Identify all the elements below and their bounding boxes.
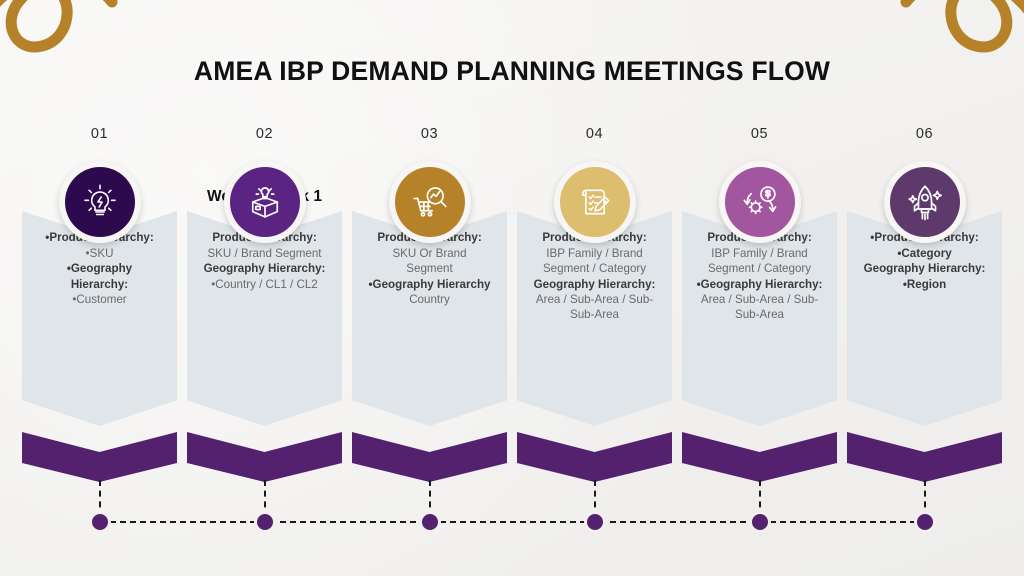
step-chevron-band: [847, 432, 1002, 482]
gear-dollar-cycle-icon: [725, 167, 795, 237]
step-column-04: 04 Week 2 BU-DRProduct Hierarchy:IBP Fam…: [512, 126, 677, 476]
step-chevron-band: [352, 432, 507, 482]
step-number: 02: [182, 126, 347, 142]
step-detail-line: Geography Hierarchy:: [516, 277, 673, 292]
timeline-dot-03[interactable]: [422, 514, 438, 530]
step-column-05: 05 Week 3 BU-DRProduct Hierarchy:IBP Fam…: [677, 126, 842, 476]
step-icon-badge[interactable]: [389, 161, 471, 243]
step-connector-stem: [924, 480, 926, 518]
timeline-dot-01[interactable]: [92, 514, 108, 530]
step-detail-line: SKU Or Brand: [351, 246, 508, 261]
step-icon-badge[interactable]: [224, 161, 306, 243]
step-detail-line: Area / Sub-Area / Sub-: [516, 292, 673, 307]
step-detail-line: Sub-Area: [516, 307, 673, 322]
step-detail-line: Country: [351, 292, 508, 307]
step-column-02: 02 Week 4/ Week 1 Pre-DRProduct Hierarch…: [182, 126, 347, 476]
step-icon-badge[interactable]: [719, 161, 801, 243]
timeline-dot-05[interactable]: [752, 514, 768, 530]
slide-canvas: AMEA IBP DEMAND PLANNING MEETINGS FLOW 0…: [0, 0, 1024, 576]
step-icon-badge[interactable]: [554, 161, 636, 243]
step-chevron-band: [682, 432, 837, 482]
step-detail-line: Segment / Category: [681, 261, 838, 276]
step-column-06: 06 Week 4 •MBR•Product Hierarchy:•Catego…: [842, 126, 1007, 476]
step-connector-stem: [429, 480, 431, 518]
steps-container: 01 Week 3 AVM•Product Hierarchy:•SKU•Geo…: [17, 126, 1007, 476]
step-detail-line: SKU / Brand Segment: [186, 246, 343, 261]
step-detail-line: Area / Sub-Area / Sub-: [681, 292, 838, 307]
step-connector-stem: [99, 480, 101, 518]
step-detail-line: Geography Hierarchy:: [846, 261, 1003, 276]
step-column-03: 03 Week 1 Country-DRProduct Hierarchy:SK…: [347, 126, 512, 476]
gold-swirl-right-icon: [866, 0, 1024, 104]
step-chevron-band: [187, 432, 342, 482]
step-detail-line: Segment: [351, 261, 508, 276]
step-connector-stem: [264, 480, 266, 518]
step-icon-badge[interactable]: [884, 161, 966, 243]
step-detail-line: •Country / CL1 / CL2: [186, 277, 343, 292]
step-detail-line: •Geography Hierarchy:: [681, 277, 838, 292]
timeline-dot-04[interactable]: [587, 514, 603, 530]
step-chevron-band: [517, 432, 672, 482]
step-detail-line: Segment / Category: [516, 261, 673, 276]
step-detail-line: •Category: [846, 246, 1003, 261]
step-icon-badge[interactable]: [59, 161, 141, 243]
step-detail-line: •Customer: [21, 292, 178, 307]
step-detail-line: Geography Hierarchy:: [186, 261, 343, 276]
cart-analytics-icon: [395, 167, 465, 237]
step-number: 01: [17, 126, 182, 142]
step-column-01: 01 Week 3 AVM•Product Hierarchy:•SKU•Geo…: [17, 126, 182, 476]
step-detail-line: •Geography Hierarchy: [351, 277, 508, 292]
rocket-icon: [890, 167, 960, 237]
step-number: 06: [842, 126, 1007, 142]
timeline-dashed-line: [100, 521, 926, 525]
step-detail-line: IBP Family / Brand: [681, 246, 838, 261]
step-detail-line: •Region: [846, 277, 1003, 292]
step-number: 04: [512, 126, 677, 142]
timeline-dot-06[interactable]: [917, 514, 933, 530]
lightbulb-icon: [65, 167, 135, 237]
open-box-idea-icon: [230, 167, 300, 237]
step-connector-stem: [759, 480, 761, 518]
step-detail-line: •SKU: [21, 246, 178, 261]
timeline-dot-02[interactable]: [257, 514, 273, 530]
step-number: 05: [677, 126, 842, 142]
step-connector-stem: [594, 480, 596, 518]
checklist-pencil-icon: [560, 167, 630, 237]
step-detail-line: IBP Family / Brand: [516, 246, 673, 261]
step-chevron-band: [22, 432, 177, 482]
page-title: AMEA IBP DEMAND PLANNING MEETINGS FLOW: [0, 56, 1024, 87]
gold-swirl-left-icon: [0, 0, 152, 104]
step-number: 03: [347, 126, 512, 142]
step-detail-line: Sub-Area: [681, 307, 838, 322]
step-detail-line: Hierarchy:: [21, 277, 178, 292]
step-detail-line: •Geography: [21, 261, 178, 276]
